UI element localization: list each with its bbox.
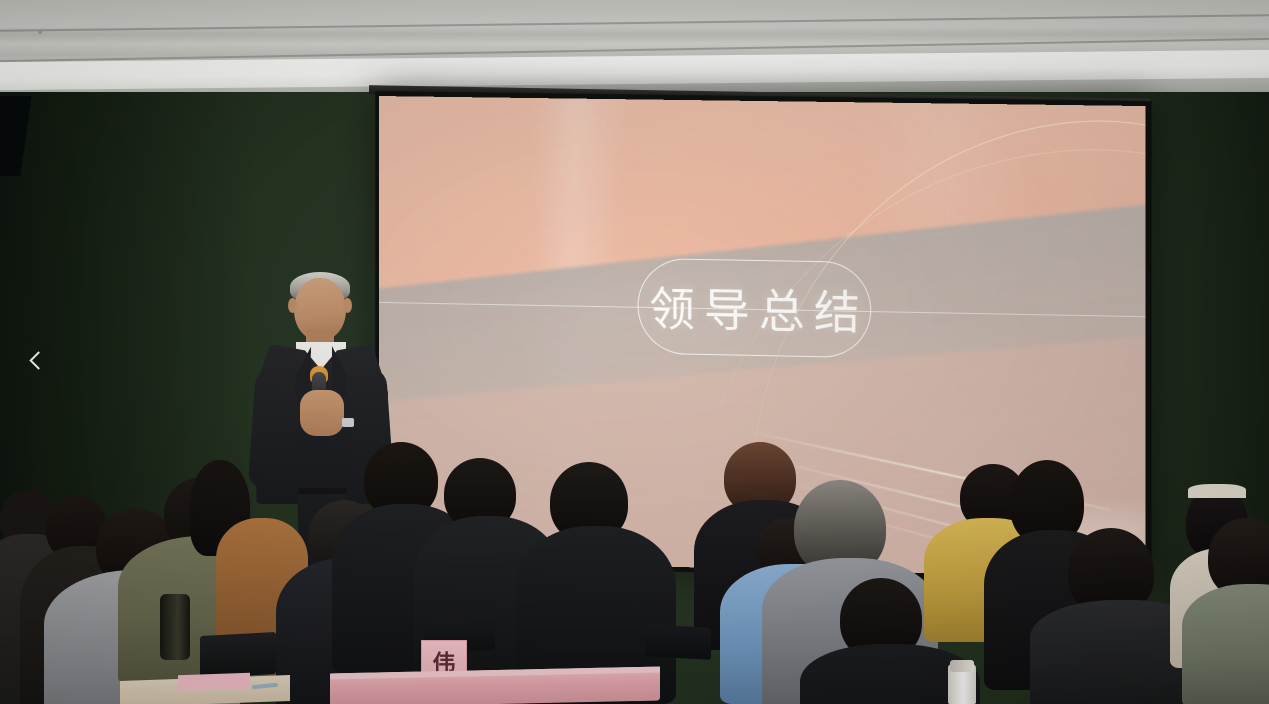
water-bottle-cap [950,660,974,672]
ceiling-seam [0,14,1269,32]
photo-viewer-stage: 领导总结 [0,0,1269,704]
chevron-left-icon [29,351,47,369]
slide-title-pill: 领导总结 [638,258,872,358]
laptop [645,624,711,659]
person-torso [1182,584,1269,704]
laptop [200,632,276,678]
desk-paper [178,673,250,692]
previous-photo-button[interactable] [16,340,56,380]
person-headband [1188,484,1246,498]
speaker-ear-left [288,298,297,313]
audience-group: 伟 [0,400,1269,704]
thermos-bottle [160,594,190,660]
ceiling-fixture-screw [38,30,42,34]
slide-title: 领导总结 [640,273,869,343]
speaker-ear-right [343,298,352,313]
